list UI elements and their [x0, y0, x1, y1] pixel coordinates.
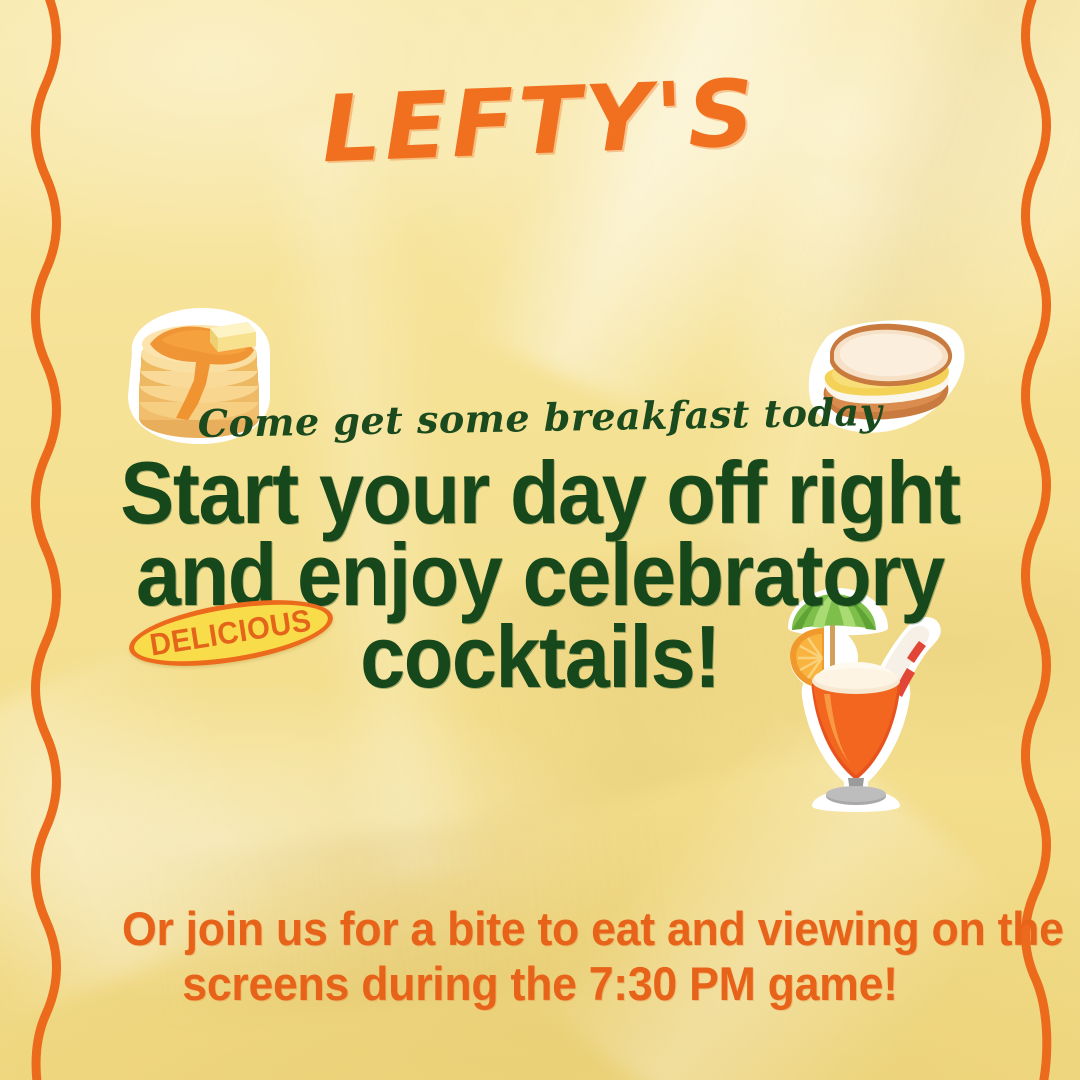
footer-line-2: screens during the 7:30 PM game!	[122, 957, 958, 1012]
promo-poster: LEFTY'S	[0, 0, 1080, 1080]
headline-line-1: Start your day off right	[98, 452, 981, 534]
footer-line-1: Or join us for a bite to eat and viewing…	[122, 902, 958, 957]
brand-title: LEFTY'S	[0, 47, 1080, 195]
footer-text: Or join us for a bite to eat and viewing…	[122, 902, 958, 1012]
